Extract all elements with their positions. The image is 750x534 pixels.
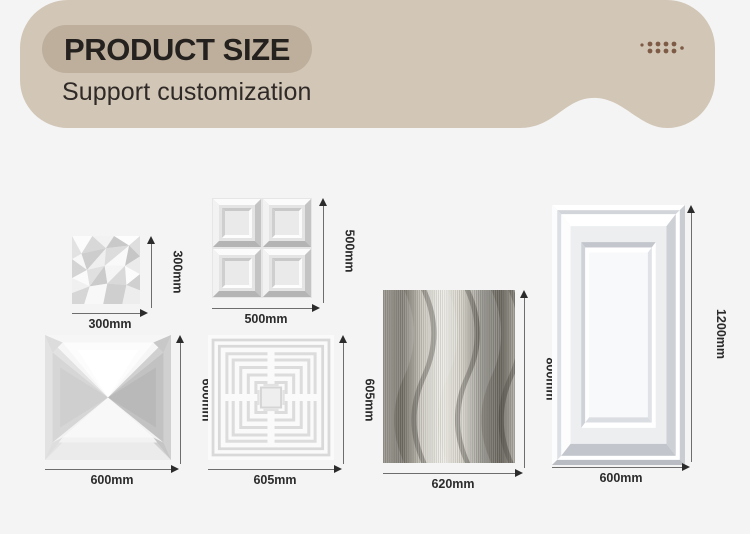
arrow-head-icon	[515, 469, 523, 477]
panel-swatch-diamond	[72, 236, 140, 304]
dimension-height-label: 300mm	[171, 250, 185, 293]
dimension-line	[151, 243, 152, 308]
dimension-height-label: 500mm	[343, 229, 357, 272]
dimension-width-label: 600mm	[45, 473, 179, 487]
labyrinth-maze-texture	[208, 335, 334, 460]
dimension-height-600-pyramid: 600mm	[175, 335, 203, 464]
coffered-squares-texture	[212, 198, 312, 298]
dot-grid-icon	[639, 38, 689, 58]
dimension-width-label: 300mm	[72, 317, 148, 331]
dimension-height-label: 1200mm	[714, 308, 728, 358]
panel-swatch-pyramid	[45, 335, 171, 460]
arrow-head-icon	[171, 465, 179, 473]
product-panel-coffered-500[interactable]: 500mm 500mm	[212, 198, 352, 328]
title-pill: PRODUCT SIZE	[42, 25, 312, 73]
arrow-head-icon	[176, 335, 184, 343]
dimension-height-label: 605mm	[363, 378, 377, 421]
arrow-head-icon	[687, 205, 695, 213]
dimension-height-500: 500mm	[318, 198, 346, 303]
arrow-head-icon	[682, 463, 690, 471]
dimension-height-800: 800mm	[519, 290, 547, 468]
dimension-width-620: 620mm	[383, 469, 523, 495]
dimension-line	[72, 313, 141, 314]
dimension-width-600-pyramid: 600mm	[45, 465, 179, 491]
arrow-head-icon	[339, 335, 347, 343]
raised-door-panel-texture	[552, 205, 685, 465]
product-panel-maze-605[interactable]: 605mm 605mm	[208, 335, 358, 490]
dimension-line	[180, 342, 181, 464]
dimension-width-300: 300mm	[72, 309, 148, 335]
dimension-width-label: 605mm	[208, 473, 342, 487]
header-banner: PRODUCT SIZE Support customization	[0, 0, 750, 140]
panel-swatch-coffered	[212, 198, 312, 298]
arrow-head-icon	[147, 236, 155, 244]
dimension-line	[45, 469, 172, 470]
wave-leaf-stripe-texture	[383, 290, 515, 463]
faceted-diamond-texture	[72, 236, 140, 304]
product-panel-door-600[interactable]: 600mm 1200mm	[552, 205, 712, 490]
dimension-width-label: 620mm	[383, 477, 523, 491]
dimension-height-300: 300mm	[146, 236, 174, 308]
product-panel-wave-620[interactable]: 620mm 800mm	[383, 290, 528, 490]
dimension-height-1200: 1200mm	[686, 205, 714, 462]
dimension-line	[323, 205, 324, 303]
dimension-line	[212, 308, 313, 309]
dimension-line	[383, 473, 516, 474]
dimension-width-600-door: 600mm	[552, 463, 690, 489]
dimension-height-605: 605mm	[338, 335, 366, 464]
dimension-width-label: 500mm	[212, 312, 320, 326]
panel-swatch-maze	[208, 335, 334, 460]
panel-swatch-door	[552, 205, 685, 465]
dimension-width-label: 600mm	[552, 471, 690, 485]
product-panel-diamond-300[interactable]: 300mm 300mm	[72, 236, 202, 331]
dimension-width-605: 605mm	[208, 465, 342, 491]
dimension-line	[552, 467, 683, 468]
arrow-head-icon	[520, 290, 528, 298]
arrow-head-icon	[334, 465, 342, 473]
dimension-line	[691, 212, 692, 462]
subtitle: Support customization	[62, 78, 311, 107]
page-title: PRODUCT SIZE	[64, 34, 290, 65]
arrow-head-icon	[319, 198, 327, 206]
dimension-line	[343, 342, 344, 464]
dimension-line	[524, 297, 525, 468]
arrow-head-icon	[312, 304, 320, 312]
dimension-line	[208, 469, 335, 470]
product-panel-pyramid-600[interactable]: 600mm 600mm	[45, 335, 195, 490]
panel-swatch-wave	[383, 290, 515, 463]
dimension-width-500: 500mm	[212, 304, 320, 330]
x-star-pyramid-texture	[45, 335, 171, 460]
arrow-head-icon	[140, 309, 148, 317]
